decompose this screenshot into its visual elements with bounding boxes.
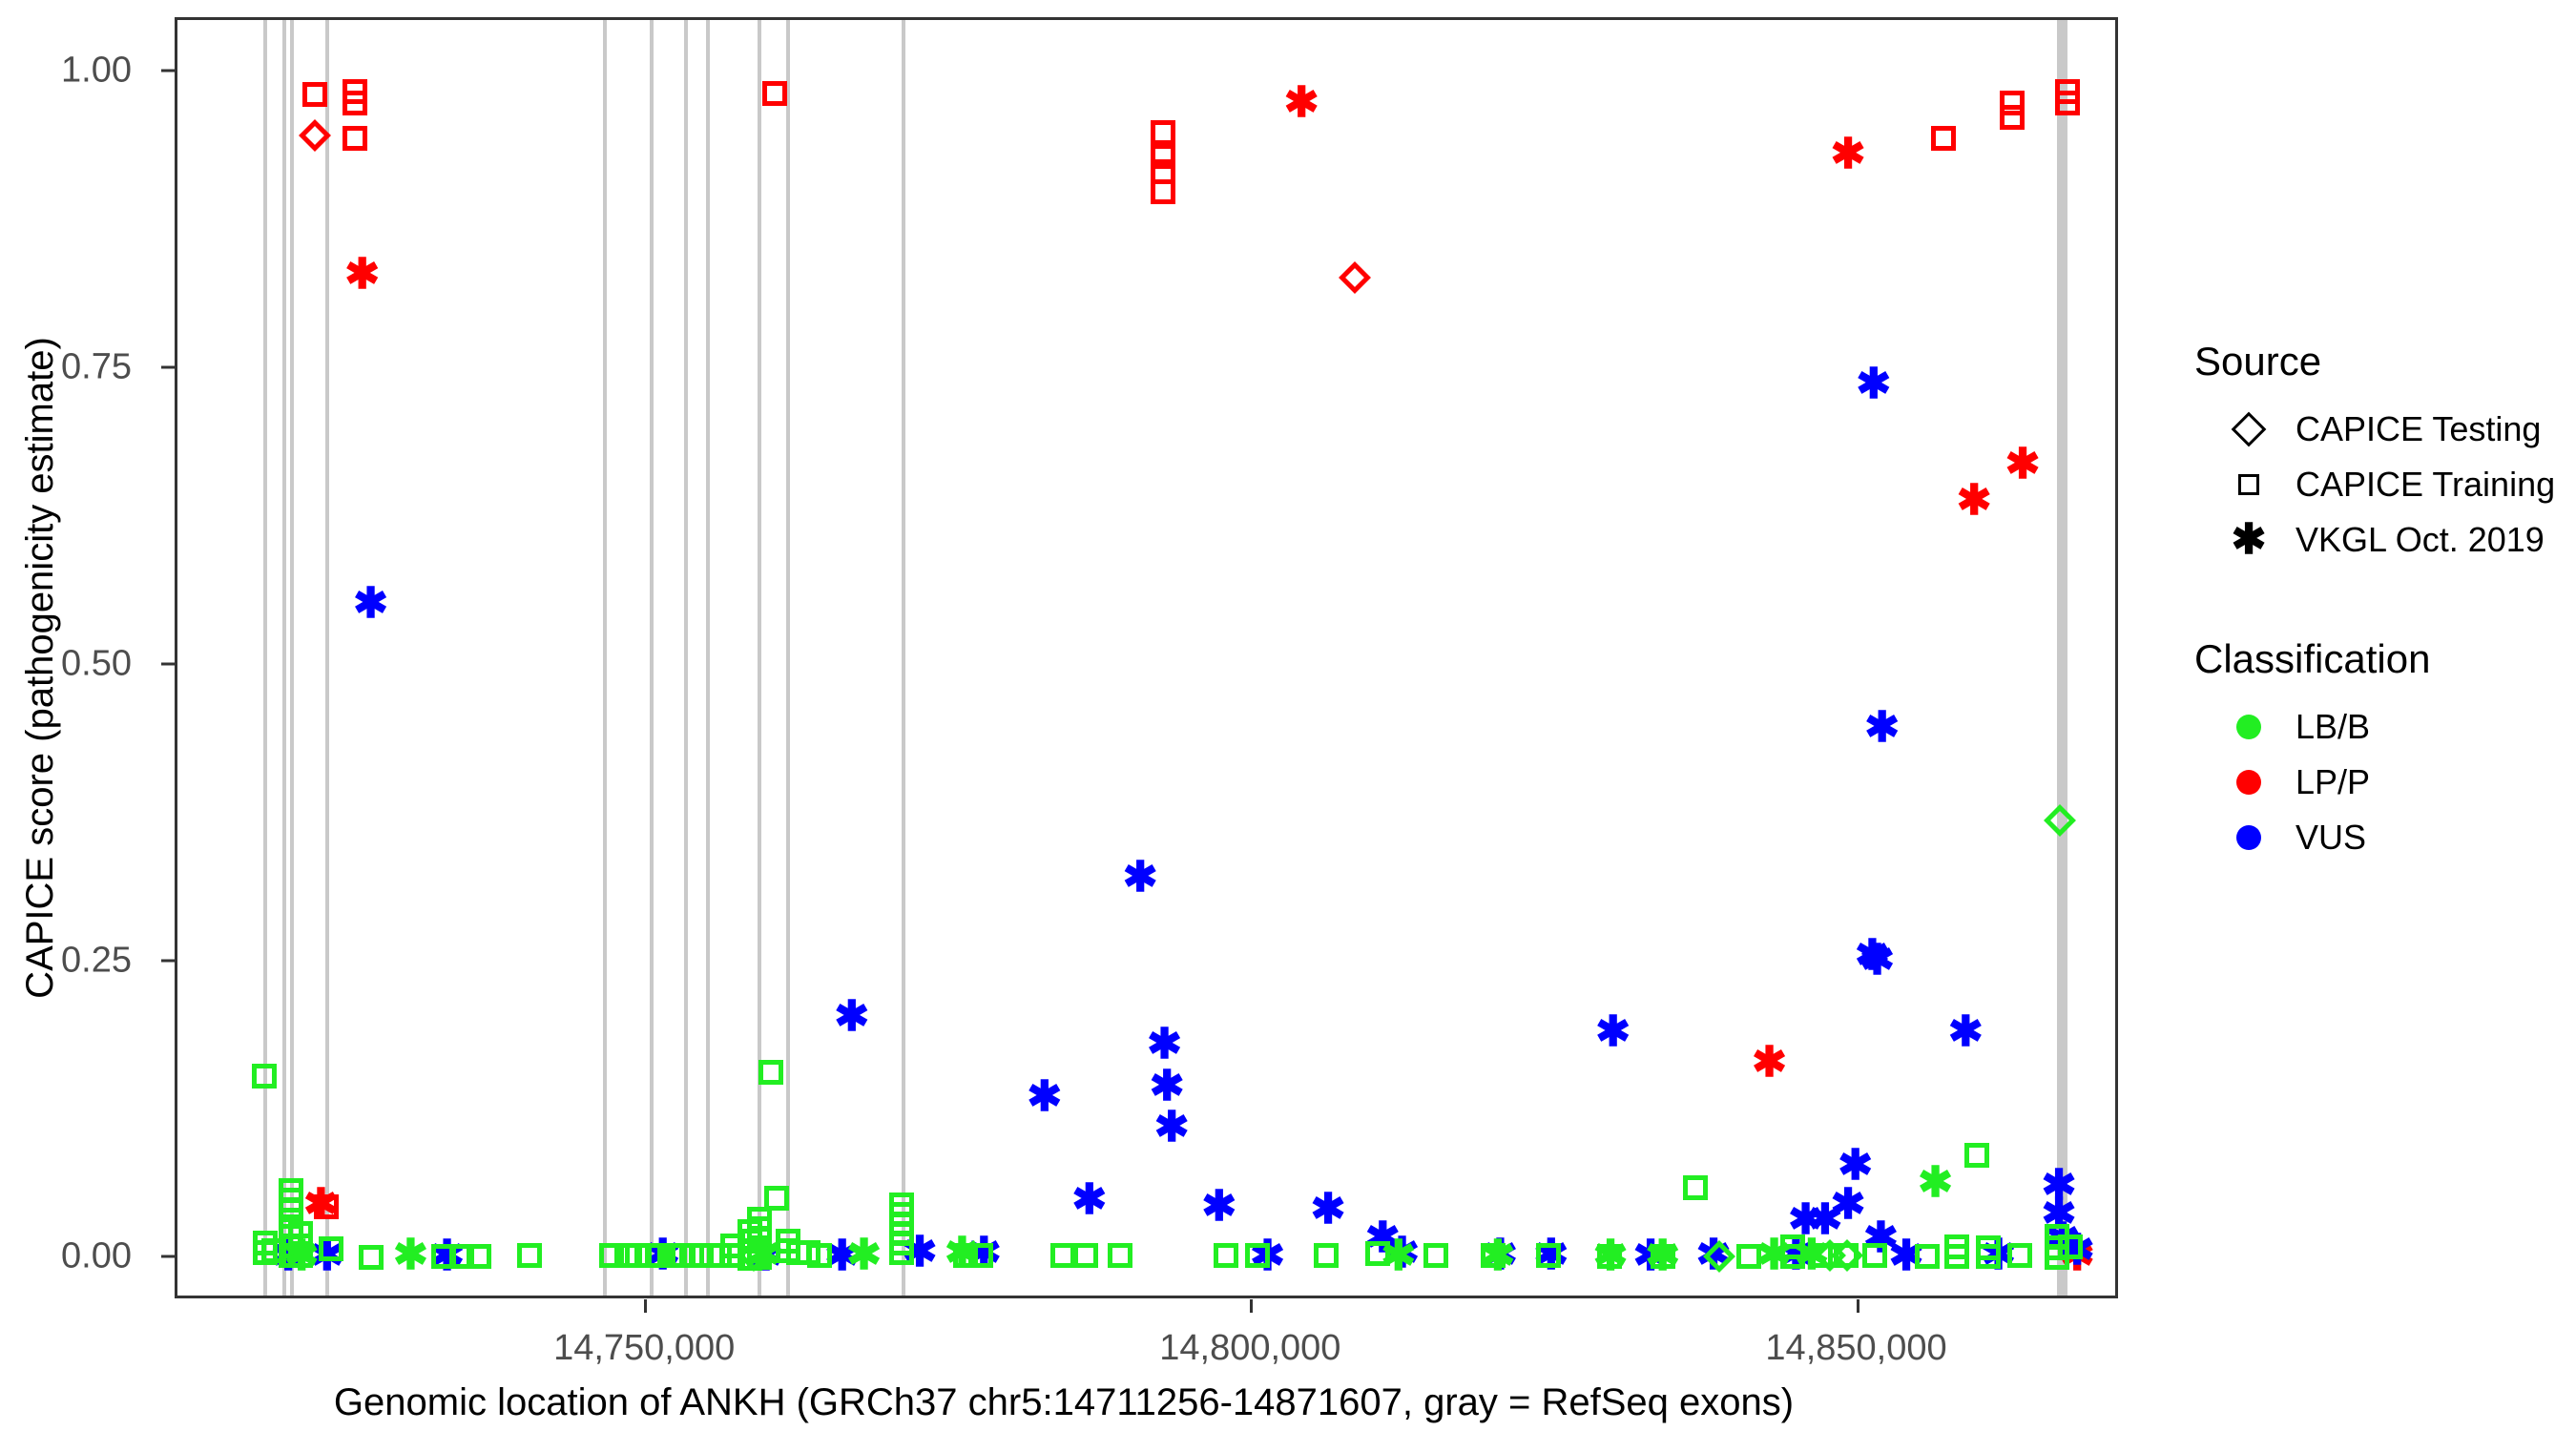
exon-line [263, 20, 267, 1296]
data-point: ✱ [1827, 134, 1869, 176]
legend-item[interactable]: CAPICE Training [2194, 457, 2576, 512]
exon-line [786, 20, 790, 1296]
data-point [1931, 126, 1956, 151]
data-point [1683, 1175, 1708, 1200]
data-point: ✱ [2002, 444, 2044, 486]
data-point: ✱ [1119, 857, 1161, 899]
data-point [1976, 1244, 2001, 1269]
circle-glyph [2236, 715, 2261, 739]
exon-line [684, 20, 688, 1296]
data-point [1536, 1243, 1561, 1268]
legend-item[interactable]: VUS [2194, 810, 2576, 865]
data-point [2007, 1243, 2032, 1268]
exon-line [758, 20, 761, 1296]
y-tick-label: 0.25 [0, 940, 132, 981]
exon-line [650, 20, 654, 1296]
exon-line [902, 20, 905, 1296]
data-point: ✱ [1953, 480, 1995, 522]
data-point: ✱ [1198, 1186, 1240, 1228]
data-point [2044, 804, 2076, 837]
x-tick-label: 14,850,000 [1714, 1328, 2000, 1369]
data-point: ✱ [742, 1234, 784, 1276]
plot-panel[interactable]: ✱✱✱✱✱✱✱✱✱✱✱✱✱✱✱✱✱✱✱✱✱✱✱✱✱✱✱✱✱✱✱✱✱✱✱✱✱✱✱✱… [175, 17, 2118, 1298]
exon-line [2057, 20, 2067, 1296]
legend-item-label: CAPICE Testing [2296, 409, 2541, 449]
data-point [1214, 1243, 1238, 1268]
data-point [758, 1060, 783, 1085]
legend-item-label: VKGL Oct. 2019 [2296, 520, 2545, 560]
data-point: ✱ [1754, 1234, 1796, 1276]
data-point: ✱ [350, 583, 392, 625]
legend-item-label: VUS [2296, 818, 2366, 858]
data-point: ✱ [300, 1184, 342, 1226]
exon-line [282, 20, 286, 1296]
y-tick-mark [161, 662, 175, 665]
data-point: ✱ [1151, 1107, 1193, 1149]
legend-title-classification: Classification [2194, 636, 2576, 682]
data-point: ✱ [1749, 1042, 1791, 1084]
asterisk-glyph: ✱ [2232, 519, 2267, 561]
y-tick-mark [161, 1255, 175, 1258]
data-point: ✱ [342, 254, 384, 296]
x-tick-mark [1857, 1299, 1859, 1313]
y-tick-label: 1.00 [0, 50, 132, 91]
circle-filled-icon [2219, 715, 2278, 739]
legend-item-label: LB/B [2296, 707, 2370, 747]
data-point [1314, 1243, 1339, 1268]
exon-line [290, 20, 294, 1296]
chart-root: CAPICE score (pathogenicity estimate) 0.… [0, 0, 2576, 1431]
data-point [302, 82, 327, 107]
data-point [647, 1243, 672, 1268]
data-point: ✱ [1857, 940, 1899, 982]
y-tick-label: 0.75 [0, 346, 132, 387]
legend-item[interactable]: LP/P [2194, 755, 2576, 810]
square-glyph [2238, 474, 2259, 495]
data-point [1108, 1243, 1132, 1268]
y-tick-mark [161, 959, 175, 962]
data-point: ✱ [1915, 1162, 1957, 1204]
data-point: ✱ [1378, 1235, 1420, 1277]
data-point: ✱ [1144, 1024, 1186, 1066]
data-point: ✱ [389, 1234, 431, 1276]
legend-group-classification: Classification LB/BLP/PVUS [2194, 636, 2576, 865]
legend-item-label: CAPICE Training [2296, 465, 2555, 505]
legend-item-label: LP/P [2296, 762, 2370, 802]
data-point: ✱ [1280, 82, 1322, 124]
legend-item[interactable]: CAPICE Testing [2194, 402, 2576, 457]
data-point: ✱ [1146, 1066, 1188, 1108]
x-tick-mark [1250, 1299, 1253, 1313]
data-point [343, 91, 367, 115]
data-point: ✱ [1791, 1234, 1833, 1276]
data-point [1151, 179, 1175, 204]
exon-line [325, 20, 329, 1296]
legend-item[interactable]: LB/B [2194, 699, 2576, 755]
data-point: ✱ [1307, 1189, 1349, 1231]
data-point [1073, 1243, 1098, 1268]
data-point: ✱ [1069, 1179, 1111, 1221]
data-point: ✱ [831, 996, 873, 1038]
data-point [2055, 91, 2080, 115]
legend: Source CAPICE TestingCAPICE Training✱VKG… [2194, 339, 2576, 865]
data-point: ✱ [1642, 1235, 1684, 1277]
data-point [467, 1244, 491, 1269]
x-tick-mark [644, 1299, 647, 1313]
data-point [1423, 1243, 1448, 1268]
data-point [889, 1240, 914, 1265]
data-point: ✱ [1024, 1076, 1066, 1118]
data-point [2000, 105, 2025, 130]
data-point [1915, 1244, 1940, 1269]
data-point [762, 81, 787, 106]
circle-glyph [2236, 825, 2261, 850]
x-tick-label: 14,800,000 [1107, 1328, 1393, 1369]
data-point [252, 1064, 277, 1089]
data-point [1050, 1243, 1075, 1268]
x-axis-title: Genomic location of ANKH (GRCh37 chr5:14… [0, 1381, 2128, 1424]
y-tick-label: 0.50 [0, 643, 132, 684]
legend-group-source: Source CAPICE TestingCAPICE Training✱VKG… [2194, 339, 2576, 568]
diamond-outline-icon [2219, 417, 2278, 442]
data-point: ✱ [1589, 1235, 1631, 1277]
data-point [517, 1243, 542, 1268]
exon-line [603, 20, 607, 1296]
data-point [1339, 261, 1371, 294]
exon-line [706, 20, 710, 1296]
asterisk-icon: ✱ [2219, 519, 2278, 561]
data-point: ✱ [280, 1235, 322, 1277]
circle-filled-icon [2219, 770, 2278, 795]
data-point [807, 1243, 832, 1268]
data-point [343, 126, 367, 151]
data-point [1862, 1243, 1887, 1268]
x-tick-label: 14,750,000 [501, 1328, 787, 1369]
data-point: ✱ [1853, 363, 1895, 405]
square-outline-icon [2219, 474, 2278, 495]
data-point: ✱ [1861, 707, 1903, 749]
data-point [1245, 1243, 1270, 1268]
data-point [1964, 1143, 1989, 1168]
data-point [2058, 1234, 2083, 1259]
data-point [1151, 120, 1175, 145]
data-point: ✱ [1592, 1011, 1634, 1053]
legend-title-source: Source [2194, 339, 2576, 384]
y-tick-mark [161, 365, 175, 368]
legend-item[interactable]: ✱VKGL Oct. 2019 [2194, 512, 2576, 568]
data-point: ✱ [1944, 1011, 1986, 1053]
data-point [1944, 1244, 1969, 1269]
circle-glyph [2236, 770, 2261, 795]
circle-filled-icon [2219, 825, 2278, 850]
data-point: ✱ [941, 1233, 983, 1275]
data-point [359, 1245, 384, 1270]
data-point: ✱ [1477, 1235, 1519, 1277]
diamond-glyph [2232, 412, 2267, 447]
data-point: ✱ [843, 1234, 885, 1276]
y-tick-label: 0.00 [0, 1236, 132, 1277]
y-tick-mark [161, 69, 175, 72]
